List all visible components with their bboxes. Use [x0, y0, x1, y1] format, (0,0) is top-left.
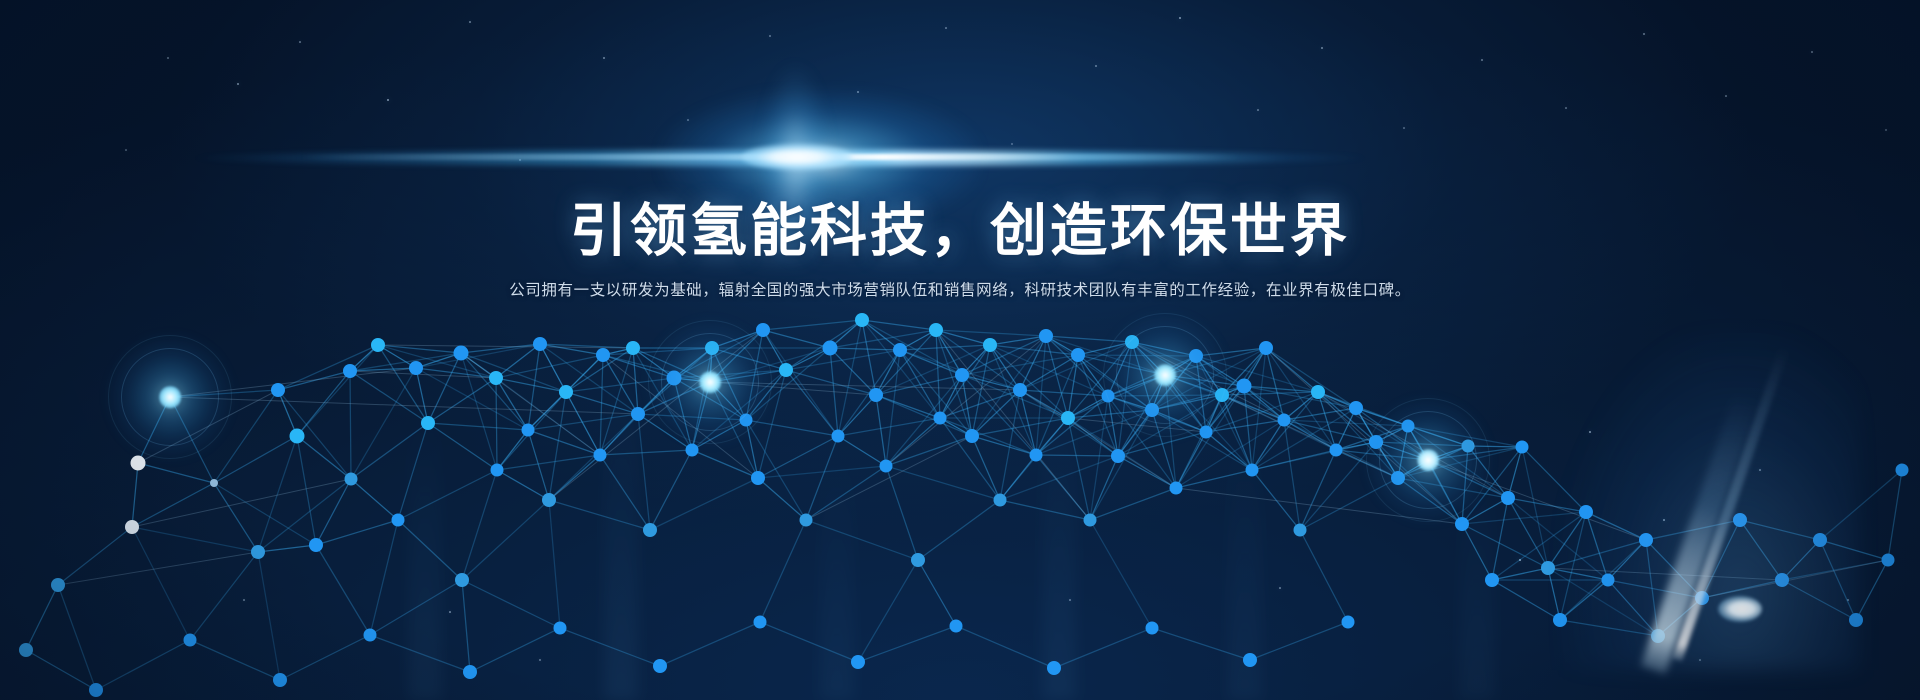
network-link [806, 520, 918, 560]
network-link [876, 330, 936, 395]
network-node [1039, 329, 1053, 343]
network-node [522, 424, 535, 437]
network-node [1391, 471, 1405, 485]
network-node [210, 479, 218, 487]
network-node [489, 371, 503, 385]
network-node [1455, 517, 1469, 531]
network-link [1118, 375, 1165, 456]
network-node [392, 514, 405, 527]
network-link [1856, 560, 1888, 620]
network-link [760, 520, 806, 622]
network-link [1090, 520, 1152, 628]
network-link [58, 585, 96, 690]
network-link [862, 320, 876, 395]
network-link [876, 395, 886, 466]
network-node [1553, 613, 1567, 627]
network-link [1702, 520, 1740, 598]
network-link [214, 483, 258, 552]
network-node [131, 456, 146, 471]
network-node [756, 323, 770, 337]
network-link [1508, 498, 1608, 580]
network-node [740, 414, 753, 427]
network-node [1145, 403, 1159, 417]
network-node [1349, 401, 1363, 415]
network-node [667, 371, 682, 386]
network-node [643, 523, 657, 537]
network-link [1176, 470, 1252, 488]
network-link [786, 370, 838, 436]
network-node [1516, 441, 1529, 454]
network-link [650, 450, 692, 530]
network-link [351, 368, 416, 479]
network-link [258, 479, 351, 552]
network-node [1278, 414, 1291, 427]
network-link [496, 355, 603, 378]
network-node [371, 338, 385, 352]
network-link [1658, 598, 1702, 636]
network-node [309, 538, 323, 552]
network-link [1548, 568, 1782, 580]
network-node [1402, 420, 1415, 433]
network-link [1468, 446, 1522, 447]
network-link [96, 640, 190, 690]
network-link [351, 479, 398, 520]
network-node [1061, 411, 1075, 425]
network-node [554, 622, 567, 635]
network-node [251, 545, 265, 559]
network-node [290, 429, 305, 444]
network-link [956, 626, 1054, 668]
network-link [1054, 628, 1152, 668]
network-link [972, 336, 1046, 436]
network-node [1311, 385, 1325, 399]
network-link [1036, 455, 1118, 456]
network-link [1206, 348, 1266, 432]
network-node [1102, 390, 1115, 403]
network-node [880, 460, 893, 473]
network-node [631, 407, 645, 421]
network-node [1882, 554, 1895, 567]
network-link [886, 466, 918, 560]
network-link [650, 478, 758, 530]
network-link [549, 330, 763, 500]
network-link [214, 483, 316, 545]
network-node [1813, 533, 1827, 547]
network-link [370, 635, 470, 672]
network-link [138, 463, 214, 483]
network-node [955, 368, 969, 382]
network-link [398, 520, 462, 580]
network-node [1695, 591, 1709, 605]
network-link [428, 423, 528, 430]
network-link [190, 640, 280, 680]
network-node [950, 620, 963, 633]
network-node [273, 673, 287, 687]
network-link [566, 355, 603, 392]
network-link [1462, 446, 1468, 524]
network-link [918, 560, 956, 626]
network-node [779, 363, 793, 377]
network-node [1541, 561, 1555, 575]
network-node [89, 683, 103, 697]
network-link [461, 353, 528, 430]
network-node [1775, 573, 1789, 587]
network-node [19, 643, 33, 657]
network-node [1200, 426, 1213, 439]
network-link [1548, 568, 1560, 620]
network-link [1888, 470, 1902, 560]
banner-subheadline: 公司拥有一支以研发为基础，辐射全国的强大市场营销队伍和销售网络，科研技术团队有丰… [0, 280, 1920, 302]
network-node [1243, 653, 1257, 667]
network-node [51, 578, 65, 592]
network-link [1046, 336, 1132, 342]
network-link [763, 320, 862, 330]
network-node [345, 473, 358, 486]
network-link [1046, 336, 1108, 396]
network-link [746, 420, 806, 520]
network-node [1146, 622, 1159, 635]
network-link [858, 560, 918, 662]
network-node [421, 416, 435, 430]
network-link [1376, 442, 1468, 446]
network-node [1896, 464, 1909, 477]
network-link [1428, 460, 1508, 498]
network-link [746, 420, 838, 436]
network-link [297, 436, 351, 479]
network-node [653, 659, 667, 673]
network-node [965, 429, 979, 443]
network-link [138, 397, 170, 463]
network-node [1071, 348, 1085, 362]
network-link [258, 545, 316, 552]
network-node [1030, 449, 1043, 462]
network-node [454, 346, 469, 361]
network-link [132, 479, 351, 527]
banner-headline: 引领氢能科技，创造环保世界 [0, 196, 1920, 266]
network-link [132, 527, 190, 640]
network-link [962, 336, 1046, 375]
network-node [542, 493, 556, 507]
network-link [758, 478, 806, 520]
network-node [1602, 574, 1615, 587]
network-node [463, 665, 477, 679]
network-link [1222, 392, 1318, 395]
network-node [343, 364, 357, 378]
network-node [559, 385, 573, 399]
network-node [1579, 505, 1593, 519]
network-link [1820, 470, 1902, 540]
network-link [1428, 447, 1522, 460]
network-node [1111, 449, 1125, 463]
network-link [190, 552, 258, 640]
network-link [351, 423, 428, 479]
network-node [1047, 661, 1061, 675]
network-link [132, 527, 258, 552]
network-link [1462, 524, 1492, 580]
network-node [869, 388, 883, 402]
network-link [1300, 450, 1336, 530]
network-link [1300, 478, 1398, 530]
network-node [1170, 482, 1183, 495]
network-link [316, 520, 398, 545]
network-node [1733, 513, 1747, 527]
network-link [138, 390, 278, 463]
network-link [560, 628, 660, 666]
network-link [600, 348, 633, 455]
network-link [258, 552, 280, 680]
network-link [258, 436, 297, 552]
network-link [806, 436, 838, 520]
network-link [1462, 447, 1522, 524]
network-link [806, 436, 972, 520]
network-link [830, 348, 900, 350]
network-link [1522, 447, 1548, 568]
network-link [398, 423, 428, 520]
network-link [1078, 355, 1196, 356]
network-link [370, 520, 398, 635]
network-node [1639, 533, 1653, 547]
network-link [214, 436, 297, 483]
network-constellation [0, 0, 1920, 700]
network-link [1318, 392, 1508, 498]
network-link [1196, 348, 1266, 356]
network-link [692, 420, 746, 450]
network-link [214, 390, 278, 483]
network-node [934, 412, 947, 425]
network-link [170, 397, 214, 483]
network-link [1492, 580, 1560, 620]
network-node [1849, 613, 1863, 627]
network-link [462, 580, 470, 672]
network-link [470, 628, 560, 672]
network-link [838, 418, 940, 436]
network-link [496, 378, 528, 430]
network-node [1462, 440, 1475, 453]
network-link [398, 470, 497, 520]
network-node [184, 634, 197, 647]
network-link [280, 635, 370, 680]
network-link [660, 622, 760, 666]
network-link [940, 418, 1036, 455]
network-node [1485, 573, 1499, 587]
network-link [600, 455, 650, 530]
network-node [893, 343, 907, 357]
network-link [1250, 622, 1348, 660]
network-link [58, 552, 258, 585]
network-link [497, 455, 600, 470]
network-node [1237, 379, 1252, 394]
network-node [1294, 524, 1307, 537]
network-link [461, 353, 497, 470]
network-link [1152, 628, 1250, 660]
network-node [533, 337, 547, 351]
network-link [132, 483, 214, 527]
network-link [786, 350, 900, 370]
network-link [600, 450, 692, 455]
network-node [754, 616, 767, 629]
network-link [1548, 512, 1586, 568]
network-link [638, 414, 650, 530]
network-node [929, 323, 943, 337]
network-node [1013, 383, 1027, 397]
network-link [692, 382, 710, 450]
network-link [1820, 540, 1856, 620]
network-node [594, 449, 607, 462]
network-link [428, 423, 497, 470]
network-link [633, 348, 692, 450]
network-link [316, 545, 370, 635]
network-node [823, 341, 838, 356]
network-node [686, 444, 699, 457]
network-link [370, 580, 462, 635]
network-node [1369, 435, 1383, 449]
network-node [800, 514, 813, 527]
network-link [1646, 520, 1740, 540]
network-link [858, 626, 956, 662]
banner-text-block: 引领氢能科技，创造环保世界 公司拥有一支以研发为基础，辐射全国的强大市场营销队伍… [0, 196, 1920, 302]
network-link [278, 345, 378, 390]
network-link [132, 463, 138, 527]
network-link [710, 382, 746, 420]
network-link [712, 330, 763, 348]
network-link [1820, 540, 1888, 560]
network-node [596, 348, 610, 362]
network-node [1501, 491, 1515, 505]
network-link [58, 527, 132, 585]
hero-banner: 引领氢能科技，创造环保世界 公司拥有一支以研发为基础，辐射全国的强大市场营销队伍… [0, 0, 1920, 700]
network-node [832, 430, 845, 443]
network-link [462, 580, 560, 628]
network-node [1651, 629, 1665, 643]
network-node [491, 464, 504, 477]
network-link [1782, 580, 1856, 620]
network-link [763, 330, 830, 348]
network-link [1068, 418, 1090, 520]
network-node [1342, 616, 1355, 629]
network-link [806, 466, 886, 520]
network-link [1586, 512, 1646, 540]
network-link [170, 397, 638, 414]
network-link [26, 650, 96, 690]
network-node [994, 494, 1007, 507]
network-link [496, 378, 497, 470]
network-node [1084, 514, 1097, 527]
network-link [692, 450, 758, 478]
network-node [705, 341, 719, 355]
network-node [455, 573, 469, 587]
network-node [983, 338, 997, 352]
network-node [751, 471, 765, 485]
network-node [851, 655, 865, 669]
network-link [316, 479, 351, 545]
network-node [1259, 341, 1273, 355]
network-node [626, 341, 640, 355]
network-node [125, 520, 139, 534]
network-link [838, 436, 886, 466]
network-node [1215, 388, 1229, 402]
network-node [1189, 349, 1203, 363]
network-link [549, 500, 650, 530]
network-node [271, 383, 285, 397]
network-link [1560, 620, 1658, 636]
network-node [911, 553, 925, 567]
network-link [638, 382, 710, 414]
network-link [1300, 530, 1348, 622]
network-link [918, 500, 1000, 560]
network-node [1330, 444, 1343, 457]
network-link [26, 585, 58, 650]
network-link [1090, 488, 1176, 520]
network-node [409, 361, 423, 375]
network-link [549, 500, 560, 628]
network-link [297, 345, 378, 436]
network-node [1246, 464, 1259, 477]
network-node [855, 313, 869, 327]
network-link [760, 622, 858, 662]
network-node [1125, 335, 1139, 349]
network-link [1492, 498, 1508, 580]
network-link [350, 371, 351, 479]
network-node [364, 629, 377, 642]
